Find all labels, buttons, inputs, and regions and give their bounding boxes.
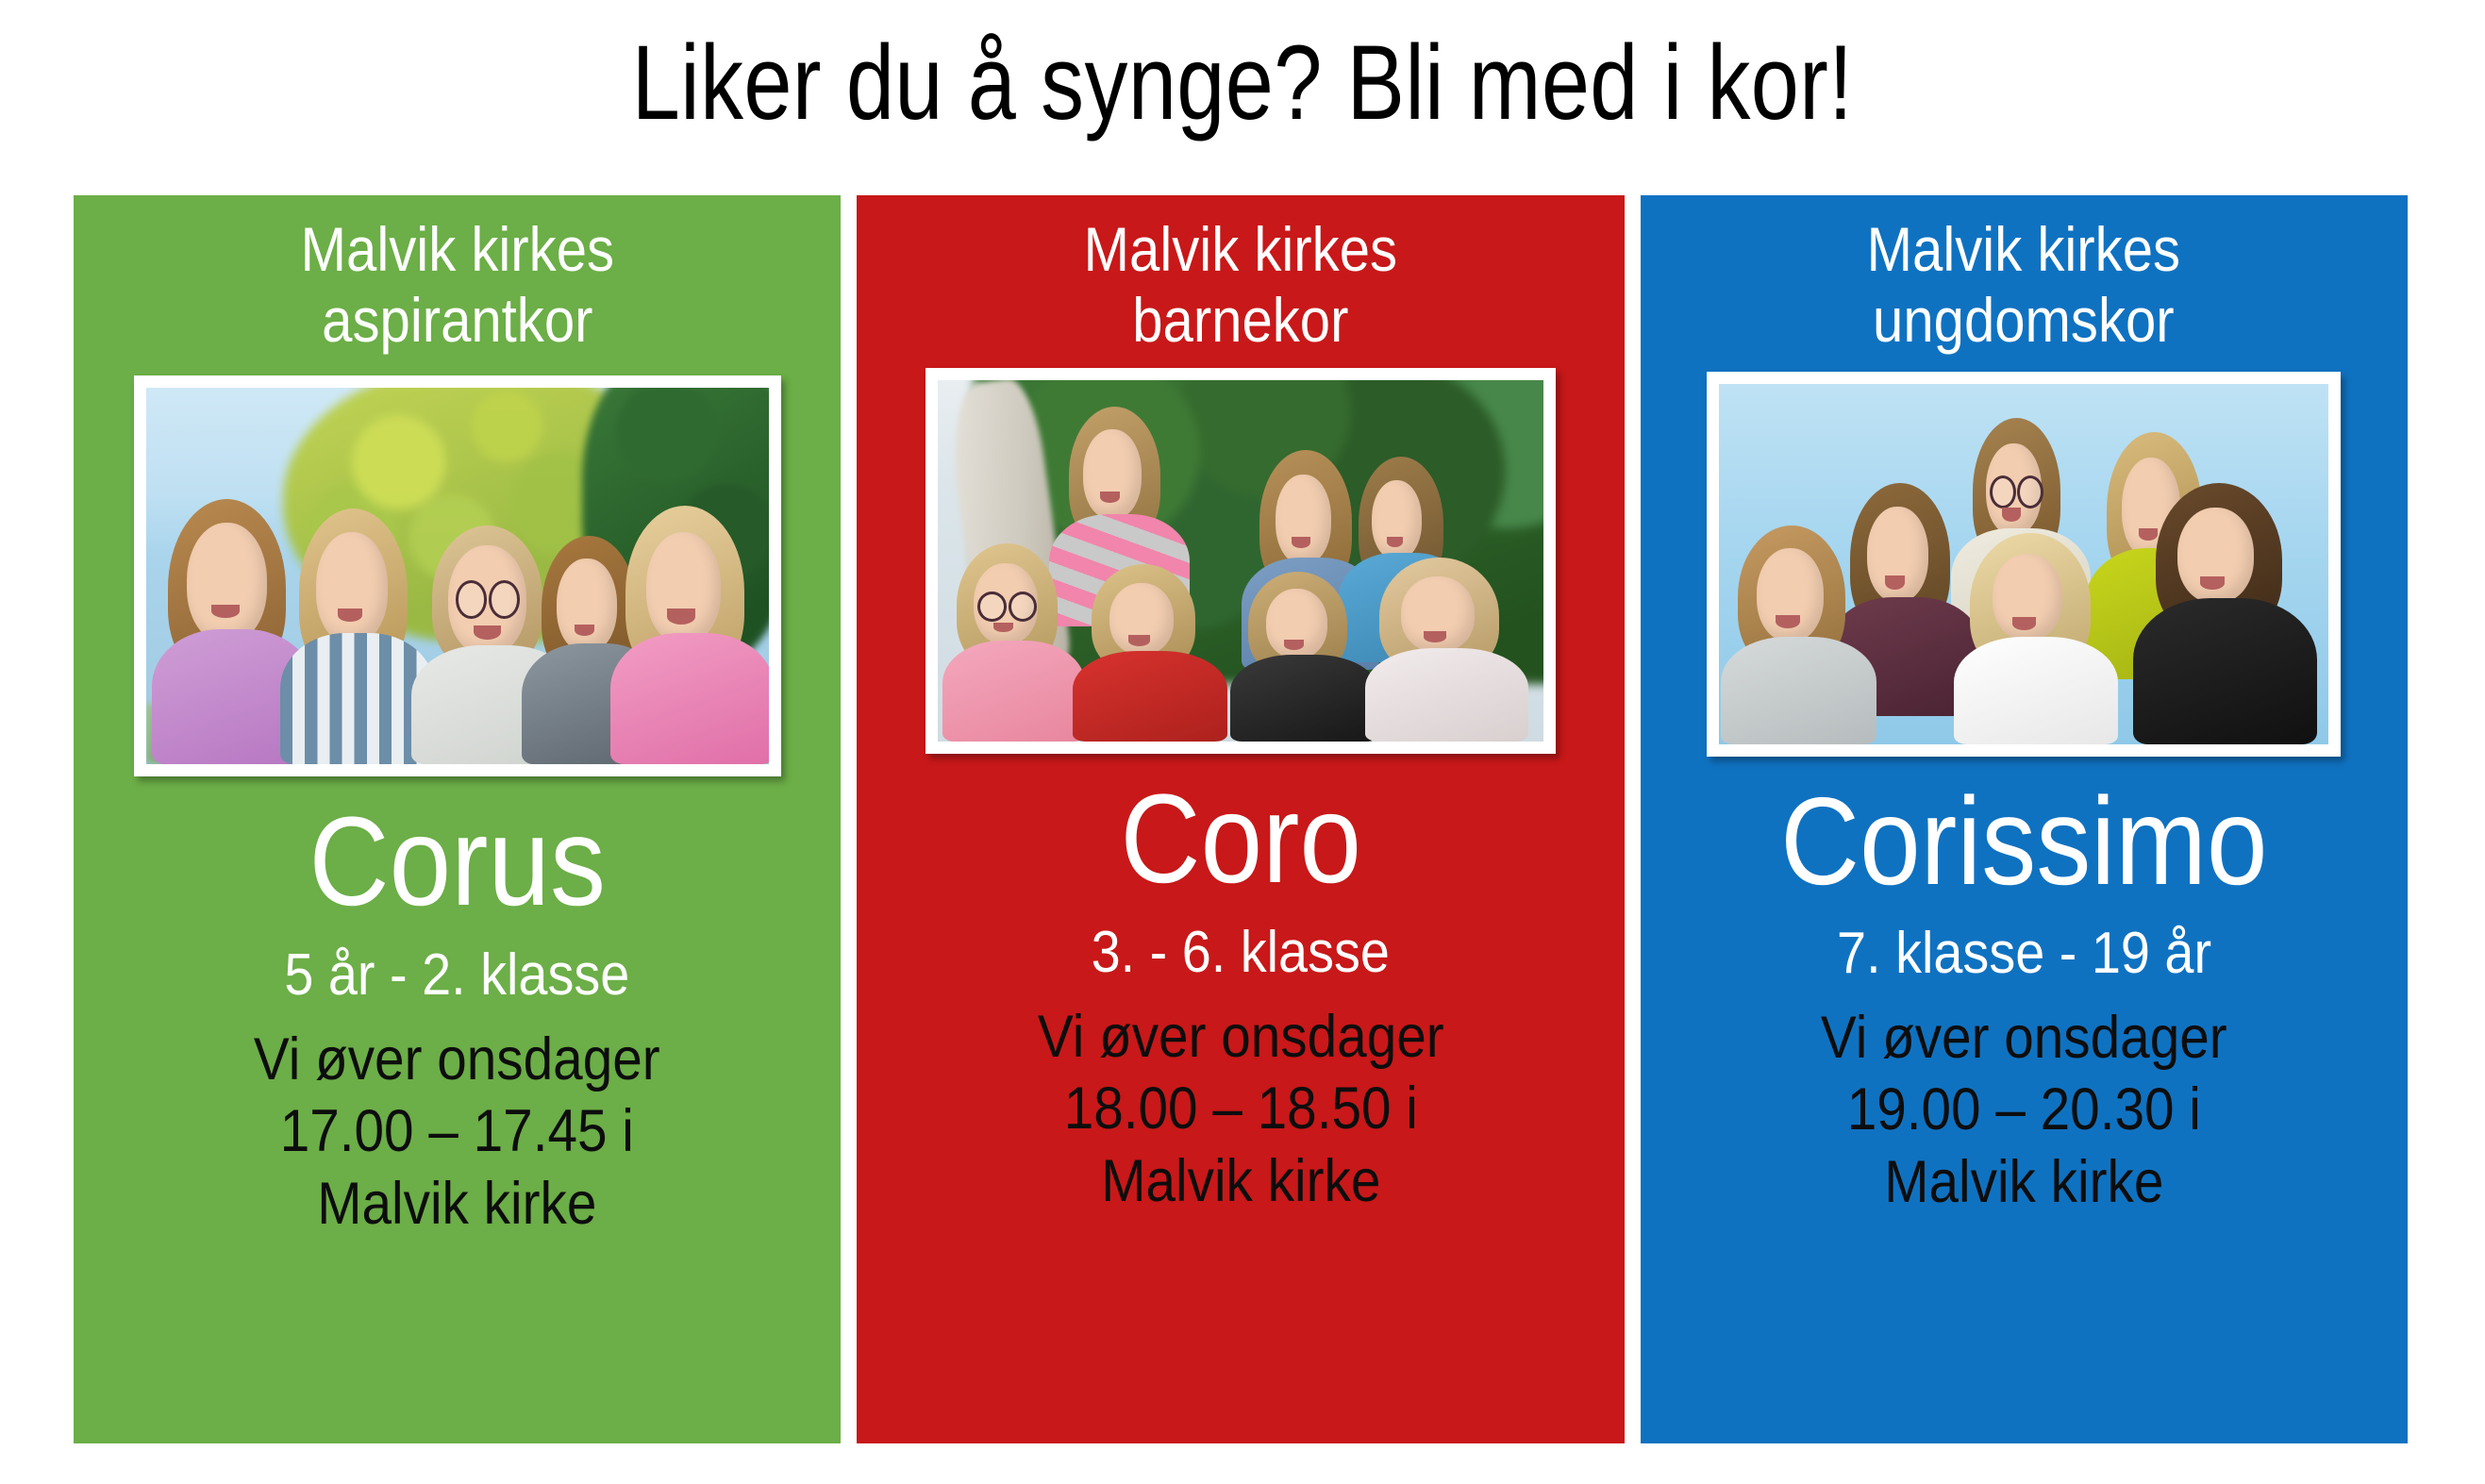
age-range-ungdomskor: 7. klasse - 19 år (1837, 921, 2211, 986)
choir-panel-row: Malvik kirkes aspirantkor (74, 195, 2408, 1443)
mouth (1284, 640, 1305, 650)
torso (1365, 648, 1528, 742)
torso (1073, 651, 1227, 742)
person-6 (1241, 568, 1368, 742)
person-7 (1374, 554, 1519, 742)
photo-frame-aspirantkor (134, 375, 781, 776)
choir-photo-ungdomskor (1719, 384, 2328, 744)
head (1372, 480, 1422, 559)
practice-info-aspirantkor: Vi øver onsdager 17.00 – 17.45 i Malvik … (254, 1024, 660, 1242)
choir-card-header-barnekor: Malvik kirkes barnekor (1076, 203, 1406, 355)
person-4 (950, 540, 1077, 742)
choir-name-ungdomskor: Corissimo (1780, 779, 2267, 904)
torso (610, 633, 769, 765)
head (557, 559, 616, 652)
mouth (2012, 617, 2036, 630)
person-5 (1963, 528, 2110, 744)
head (646, 532, 721, 642)
photo-frame-barnekor (926, 368, 1556, 754)
choir-card-barnekor[interactable]: Malvik kirkes barnekor (857, 195, 1624, 1443)
choir-photo-barnekor (938, 380, 1543, 742)
page-title: Liker du å synge? Bli med i kor! (224, 26, 2261, 141)
mouth (1776, 615, 1800, 628)
practice-info-barnekor: Vi øver onsdager 18.00 – 18.50 i Malvik … (1038, 1001, 1444, 1219)
practice-info-ungdomskor: Vi øver onsdager 19.00 – 20.30 i Malvik … (1821, 1002, 2227, 1220)
glasses-icon (456, 580, 487, 618)
torso (2133, 598, 2317, 744)
torso (1230, 655, 1377, 742)
photo-frame-ungdomskor (1707, 372, 2341, 757)
person-4 (1731, 521, 1865, 744)
mouth (667, 609, 695, 625)
choir-name-barnekor: Coro (1120, 776, 1361, 903)
glasses-icon (1990, 475, 2016, 509)
person-6 (2146, 477, 2305, 744)
person-5 (1083, 561, 1216, 742)
age-range-aspirantkor: 5 år - 2. klasse (285, 942, 630, 1008)
head (316, 532, 388, 642)
mouth (1424, 631, 1447, 642)
torso (1721, 637, 1876, 744)
mouth (575, 625, 594, 636)
head (1276, 475, 1331, 564)
glasses-icon (489, 580, 520, 618)
choir-card-ungdomskor[interactable]: Malvik kirkes ungdomskor (1641, 195, 2408, 1443)
glasses-icon (977, 592, 1006, 622)
mouth (211, 605, 240, 618)
head (1083, 429, 1142, 519)
choir-name-aspirantkor: Corus (309, 799, 606, 925)
torso (1954, 637, 2118, 745)
mouth (1387, 537, 1403, 547)
choir-card-aspirantkor[interactable]: Malvik kirkes aspirantkor (74, 195, 841, 1443)
choir-card-header-ungdomskor: Malvik kirkes ungdomskor (1859, 203, 2189, 355)
choir-recruitment-poster: Liker du å synge? Bli med i kor! Malvik … (0, 0, 2485, 1484)
torso (942, 641, 1085, 742)
choir-photo-aspirantkor (146, 388, 769, 764)
person-5 (619, 501, 768, 764)
mouth (1885, 575, 1906, 590)
glasses-icon (1009, 592, 1037, 622)
mouth (1100, 492, 1120, 503)
mouth (1128, 635, 1150, 645)
head (187, 523, 268, 642)
age-range-barnekor: 3. - 6. klasse (1092, 920, 1390, 985)
mouth (2002, 508, 2021, 522)
choir-card-header-aspirantkor: Malvik kirkes aspirantkor (292, 203, 623, 355)
